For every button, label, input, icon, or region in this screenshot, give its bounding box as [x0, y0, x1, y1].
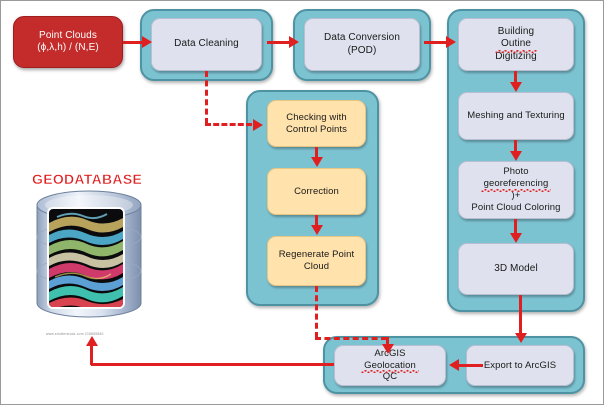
arrowhead-building-in: [446, 36, 456, 48]
connector-qc-to-geodatabase-horizontal: [91, 363, 334, 366]
connector-conversion-to-building: [424, 41, 448, 44]
building-outline-line1: Building Outine: [492, 26, 540, 51]
node-point-clouds[interactable]: Point Clouds (ϕ,λ,h) / (N,E): [13, 16, 123, 68]
connector-cleaning-to-conversion: [267, 41, 291, 44]
dashed-cleaning-to-checking-horizontal: [205, 123, 252, 126]
node-correction[interactable]: Correction: [267, 168, 366, 215]
regenerate-line2: Cloud: [301, 261, 332, 273]
photo-geo-line3: Point Cloud Coloring: [468, 202, 563, 214]
data-conversion-line1: Data Conversion: [321, 32, 403, 45]
meshing-label: Meshing and Texturing: [464, 110, 568, 122]
node-3d-model[interactable]: 3D Model: [458, 243, 574, 295]
photo-geo-misspelling: georeferencing: [481, 178, 552, 190]
node-data-conversion[interactable]: Data Conversion (POD): [304, 18, 420, 71]
dashed-cleaning-to-checking-vertical: [205, 71, 208, 124]
flowchart-canvas: Point Clouds (ϕ,λ,h) / (N,E) Data Cleani…: [0, 0, 604, 405]
model-3d-label: 3D Model: [491, 263, 541, 276]
export-arcgis-label: Export to ArcGIS: [481, 360, 559, 372]
connector-qc-to-geodatabase-vertical: [90, 345, 93, 365]
arrowhead-meshing-in: [510, 82, 522, 92]
point-clouds-line2: (ϕ,λ,h) / (N,E): [34, 42, 102, 55]
point-clouds-line1: Point Clouds: [36, 30, 100, 43]
connector-pointclouds-to-cleaning: [123, 41, 144, 44]
photo-geo-line2: georeferencing)+: [478, 178, 555, 202]
arrowhead-checking-in: [253, 119, 263, 131]
checking-line1: Checking with: [283, 112, 349, 124]
node-checking-control-points[interactable]: Checking with Control Points: [267, 100, 366, 147]
data-conversion-line2: (POD): [345, 45, 380, 58]
data-cleaning-label: Data Cleaning: [171, 38, 242, 51]
node-building-outline-digitizing[interactable]: Building Outine Digitizing: [458, 18, 574, 71]
connector-photogeo-to-3dmodel: [514, 219, 517, 234]
arrowhead-conversion-in: [289, 36, 299, 48]
node-meshing-texturing[interactable]: Meshing and Texturing: [458, 92, 574, 140]
geodatabase-cylinder-icon: [33, 187, 155, 327]
arrowhead-qc-dashed-in: [382, 344, 394, 354]
arrowhead-export-in: [515, 333, 527, 343]
arrowhead-3dmodel-in: [510, 233, 522, 243]
node-data-cleaning[interactable]: Data Cleaning: [151, 18, 262, 71]
correction-label: Correction: [291, 186, 342, 198]
regenerate-line1: Regenerate Point: [276, 249, 358, 261]
arrowhead-geodatabase-in: [86, 336, 98, 346]
arcgis-qc-misspelling: Geolocation: [361, 360, 419, 372]
node-photo-georeferencing[interactable]: Photo georeferencing)+ Point Cloud Color…: [458, 161, 574, 219]
connector-3dmodel-to-export: [519, 295, 522, 335]
connector-export-to-qc: [459, 364, 483, 367]
arrowhead-photogeo-in: [510, 151, 522, 161]
geodatabase-label: GEODATABASE: [32, 171, 142, 187]
building-outline-prefix: Building: [495, 26, 537, 39]
checking-line2: Control Points: [283, 124, 350, 136]
arrowhead-regenerate-in: [311, 225, 323, 235]
dashed-regenerate-down: [315, 286, 318, 338]
arrowhead-cleaning-in: [142, 36, 152, 48]
building-outline-misspelling: Outine: [495, 38, 537, 51]
dashed-regenerate-right: [315, 337, 387, 340]
node-regenerate-point-cloud[interactable]: Regenerate Point Cloud: [267, 236, 366, 286]
arrowhead-qc-in: [449, 359, 459, 371]
arrowhead-correction-in: [311, 157, 323, 167]
photo-geo-line1: Photo: [500, 166, 531, 178]
